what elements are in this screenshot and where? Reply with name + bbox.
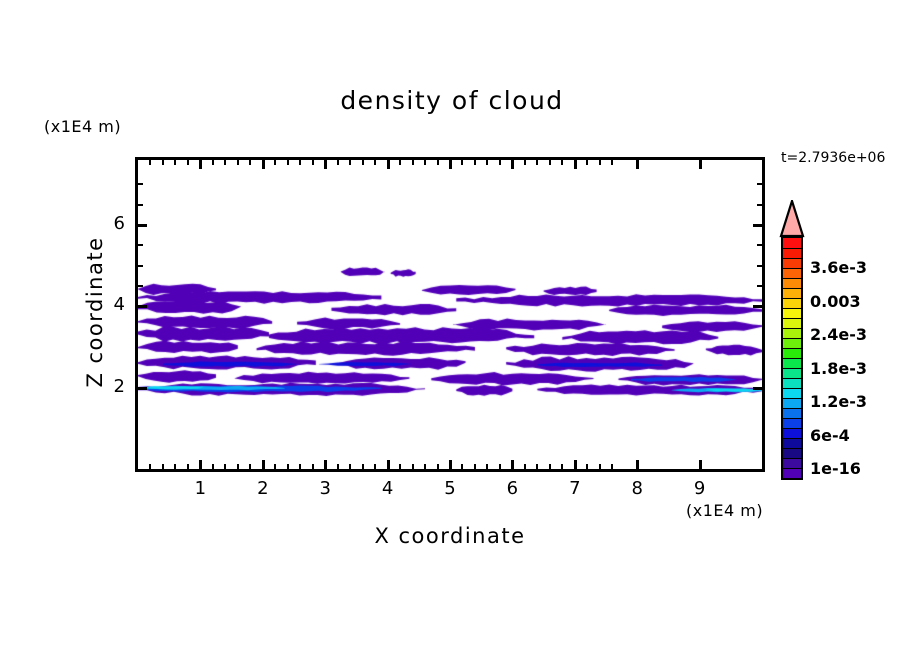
x-tick-major: [199, 460, 202, 469]
x-tick-major-top: [449, 160, 452, 169]
colorbar-tick-label: 1.8e-3: [810, 359, 867, 378]
x-tick-major: [387, 460, 390, 469]
x-tick-minor: [312, 464, 314, 469]
x-tick-minor: [162, 464, 164, 469]
x-tick-major-top: [574, 160, 577, 169]
colorbar-band: [783, 318, 801, 328]
x-tick-label: 9: [680, 478, 720, 499]
x-tick-label: 7: [555, 478, 595, 499]
colorbar-tick-label: 2.4e-3: [810, 325, 867, 344]
y-tick-minor: [138, 285, 143, 287]
colorbar-band: [783, 388, 801, 398]
y-tick-minor: [138, 244, 143, 246]
simulation-time-annotation: t=2.7936e+06: [781, 150, 885, 166]
colorbar-band: [783, 338, 801, 348]
colorbar-band: [783, 248, 801, 258]
x-tick-major-top: [511, 160, 514, 169]
colorbar-band: [783, 458, 801, 468]
x-tick-major-top: [324, 160, 327, 169]
x-tick-minor-top: [174, 160, 176, 165]
x-tick-minor-top: [424, 160, 426, 165]
y-tick-minor-right: [757, 204, 762, 206]
colorbar-band: [783, 438, 801, 448]
colorbar-band: [783, 448, 801, 458]
x-tick-minor: [287, 464, 289, 469]
x-tick-major-top: [387, 160, 390, 169]
x-tick-minor-top: [561, 160, 563, 165]
x-tick-major-top: [262, 160, 265, 169]
x-tick-minor-top: [162, 160, 164, 165]
contour-plot-figure: density of cloud (x1E4 m) t=2.7936e+06 1…: [0, 0, 904, 654]
x-tick-label: 3: [305, 478, 345, 499]
x-tick-minor: [187, 464, 189, 469]
x-tick-minor-top: [486, 160, 488, 165]
x-tick-minor: [174, 464, 176, 469]
x-tick-label: 4: [368, 478, 408, 499]
x-tick-minor-top: [437, 160, 439, 165]
x-tick-minor-top: [237, 160, 239, 165]
x-tick-minor-top: [312, 160, 314, 165]
x-tick-minor: [437, 464, 439, 469]
x-tick-minor: [399, 464, 401, 469]
y-tick-minor: [138, 183, 143, 185]
colorbar-band: [783, 428, 801, 438]
x-tick-major-top: [199, 160, 202, 169]
x-tick-minor-top: [611, 160, 613, 165]
x-tick-major: [699, 460, 702, 469]
x-axis-title: X coordinate: [135, 524, 765, 548]
colorbar-band: [783, 278, 801, 288]
x-tick-minor-top: [287, 160, 289, 165]
x-tick-minor-top: [274, 160, 276, 165]
x-tick-minor: [524, 464, 526, 469]
x-tick-minor: [599, 464, 601, 469]
y-tick-major: [138, 305, 147, 308]
x-tick-minor: [561, 464, 563, 469]
colorbar-band: [783, 468, 801, 478]
x-tick-major-top: [636, 160, 639, 169]
x-tick-minor-top: [224, 160, 226, 165]
colorbar-band: [783, 238, 801, 248]
x-tick-minor-top: [349, 160, 351, 165]
plot-axes-frame: [135, 157, 765, 472]
y-tick-minor: [138, 204, 143, 206]
y-tick-major: [138, 224, 147, 227]
x-tick-label: 8: [617, 478, 657, 499]
x-tick-minor-top: [524, 160, 526, 165]
y-tick-minor-right: [757, 244, 762, 246]
colorbar-tick-label: 6e-4: [810, 426, 850, 445]
colorbar-band: [783, 378, 801, 388]
x-tick-minor: [362, 464, 364, 469]
x-tick-label: 5: [430, 478, 470, 499]
colorbar-tick-label: 1.2e-3: [810, 392, 867, 411]
x-tick-major: [574, 460, 577, 469]
x-tick-minor-top: [536, 160, 538, 165]
y-tick-minor-right: [757, 183, 762, 185]
x-tick-major-top: [699, 160, 702, 169]
colorbar-band: [783, 328, 801, 338]
y-axis-title: Z coordinate: [83, 202, 107, 422]
x-tick-minor-top: [299, 160, 301, 165]
colorbar-band: [783, 258, 801, 268]
x-tick-minor-top: [149, 160, 151, 165]
x-tick-minor: [299, 464, 301, 469]
x-tick-major: [262, 460, 265, 469]
y-tick-major-right: [753, 387, 762, 390]
colorbar[interactable]: [781, 236, 803, 480]
x-tick-minor-top: [499, 160, 501, 165]
x-tick-minor: [461, 464, 463, 469]
x-tick-label: 2: [243, 478, 283, 499]
x-axis-unit-label: (x1E4 m): [686, 501, 763, 520]
x-tick-minor: [149, 464, 151, 469]
y-tick-major-right: [753, 224, 762, 227]
x-tick-minor-top: [461, 160, 463, 165]
page-title: density of cloud: [0, 86, 904, 115]
x-tick-minor: [212, 464, 214, 469]
x-tick-minor: [412, 464, 414, 469]
x-tick-minor-top: [399, 160, 401, 165]
x-tick-label: 1: [180, 478, 220, 499]
x-tick-minor-top: [362, 160, 364, 165]
x-tick-minor: [486, 464, 488, 469]
y-tick-minor-right: [757, 265, 762, 267]
y-tick-major-right: [753, 305, 762, 308]
x-tick-minor: [237, 464, 239, 469]
x-tick-minor: [611, 464, 613, 469]
contour-field-canvas: [138, 160, 762, 469]
colorbar-band: [783, 398, 801, 408]
colorbar-tick-label: 0.003: [810, 292, 861, 311]
x-tick-minor: [249, 464, 251, 469]
y-axis-unit-label: (x1E4 m): [44, 117, 121, 136]
x-tick-minor-top: [374, 160, 376, 165]
x-tick-label: 6: [492, 478, 532, 499]
x-tick-minor: [374, 464, 376, 469]
x-tick-major: [511, 460, 514, 469]
x-tick-major: [636, 460, 639, 469]
y-tick-minor-right: [757, 285, 762, 287]
colorbar-band: [783, 408, 801, 418]
colorbar-tick-label: 3.6e-3: [810, 258, 867, 277]
colorbar-tick-label: 1e-16: [810, 459, 861, 478]
x-tick-minor-top: [474, 160, 476, 165]
colorbar-band: [783, 308, 801, 318]
x-tick-minor-top: [337, 160, 339, 165]
x-tick-minor-top: [599, 160, 601, 165]
y-tick-major: [138, 387, 147, 390]
x-tick-minor: [586, 464, 588, 469]
x-tick-major: [324, 460, 327, 469]
colorbar-band: [783, 298, 801, 308]
x-tick-minor-top: [549, 160, 551, 165]
x-tick-minor: [549, 464, 551, 469]
colorbar-band: [783, 368, 801, 378]
colorbar-extend-arrow-icon: [779, 200, 805, 238]
x-tick-minor: [536, 464, 538, 469]
colorbar-band: [783, 418, 801, 428]
colorbar-band: [783, 288, 801, 298]
x-tick-minor: [224, 464, 226, 469]
x-tick-minor-top: [249, 160, 251, 165]
x-tick-minor-top: [412, 160, 414, 165]
x-tick-minor: [474, 464, 476, 469]
colorbar-band: [783, 358, 801, 368]
x-tick-minor-top: [586, 160, 588, 165]
x-tick-minor: [349, 464, 351, 469]
x-tick-minor-top: [212, 160, 214, 165]
x-tick-minor: [424, 464, 426, 469]
colorbar-band: [783, 348, 801, 358]
y-tick-minor: [138, 265, 143, 267]
x-tick-minor-top: [187, 160, 189, 165]
x-tick-minor: [499, 464, 501, 469]
colorbar-band: [783, 268, 801, 278]
x-tick-major: [449, 460, 452, 469]
x-tick-minor: [337, 464, 339, 469]
x-tick-minor: [274, 464, 276, 469]
